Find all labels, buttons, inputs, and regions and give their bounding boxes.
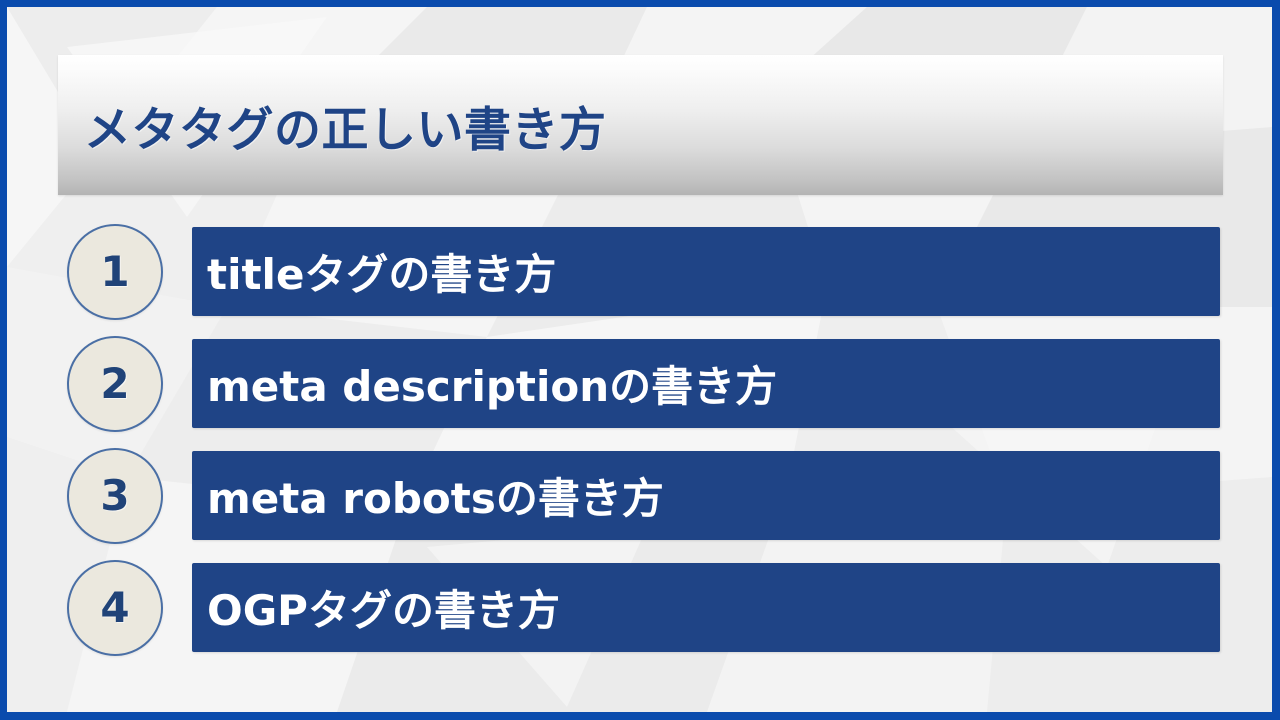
item-bar[interactable]: meta descriptionの書き方 (192, 339, 1220, 428)
item-label: meta descriptionの書き方 (207, 353, 777, 414)
item-number: 4 (100, 587, 129, 629)
list-item[interactable]: 3 meta robotsの書き方 (7, 451, 1272, 540)
item-number-badge: 2 (67, 336, 163, 432)
item-bar[interactable]: titleタグの書き方 (192, 227, 1220, 316)
list-item[interactable]: 1 titleタグの書き方 (7, 227, 1272, 316)
item-number: 1 (100, 251, 129, 293)
item-number: 2 (100, 363, 129, 405)
slide-frame: メタタグの正しい書き方 1 titleタグの書き方 2 meta descrip… (0, 0, 1280, 720)
item-label: OGPタグの書き方 (207, 577, 560, 638)
item-number-badge: 3 (67, 448, 163, 544)
agenda-list: 1 titleタグの書き方 2 meta descriptionの書き方 3 (7, 227, 1272, 652)
item-label: meta robotsの書き方 (207, 465, 664, 526)
list-item[interactable]: 2 meta descriptionの書き方 (7, 339, 1272, 428)
item-number: 3 (100, 475, 129, 517)
item-number-badge: 4 (67, 560, 163, 656)
item-label: titleタグの書き方 (207, 241, 556, 302)
title-plaque: メタタグの正しい書き方 (58, 55, 1223, 195)
slide-canvas: メタタグの正しい書き方 1 titleタグの書き方 2 meta descrip… (7, 7, 1272, 712)
page-title: メタタグの正しい書き方 (84, 91, 607, 160)
list-item[interactable]: 4 OGPタグの書き方 (7, 563, 1272, 652)
item-bar[interactable]: OGPタグの書き方 (192, 563, 1220, 652)
item-bar[interactable]: meta robotsの書き方 (192, 451, 1220, 540)
item-number-badge: 1 (67, 224, 163, 320)
